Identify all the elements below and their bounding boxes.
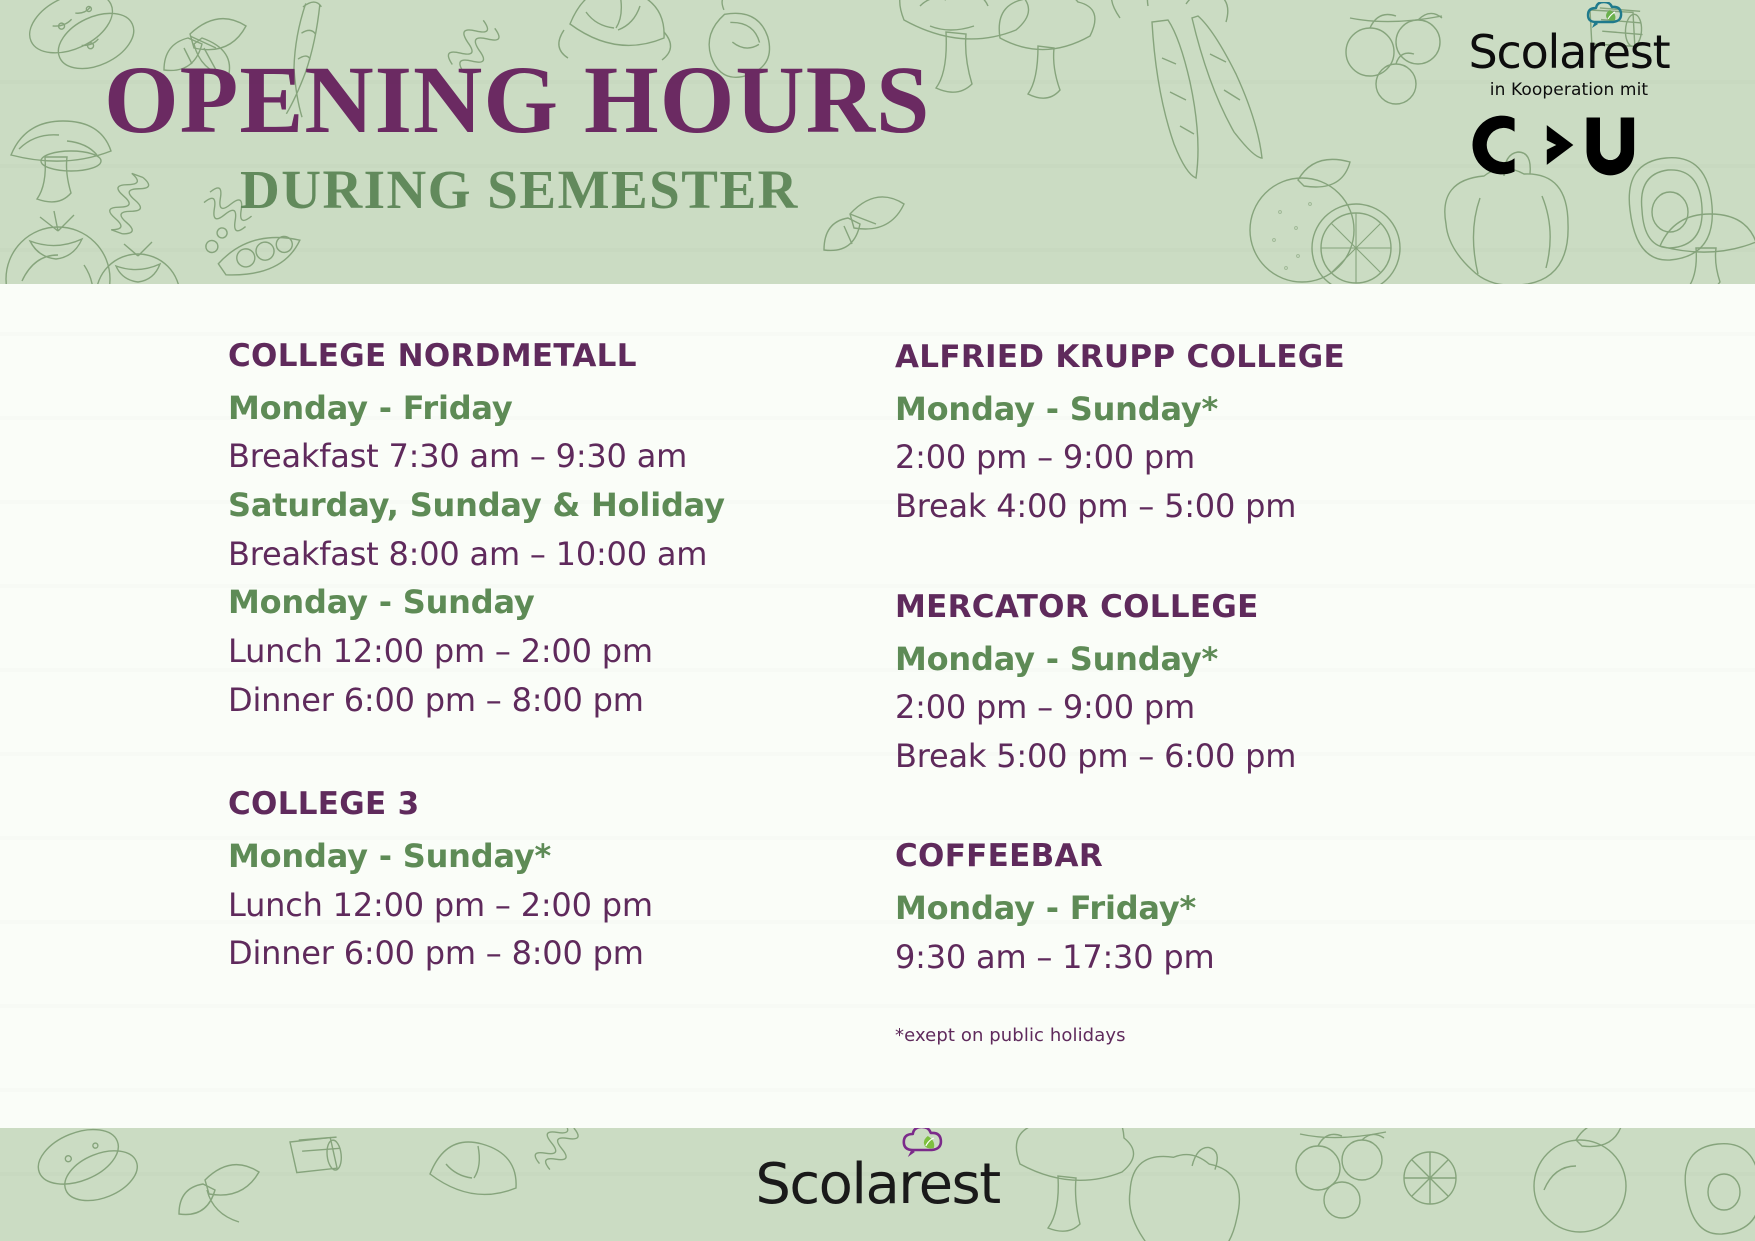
cu-partner-logo (1469, 108, 1668, 182)
venue-times: 2:00 pm – 9:00 pm (895, 683, 1580, 732)
opening-hours-content: COLLEGE NORDMETALL Monday - Friday Break… (0, 284, 1755, 1128)
venue-times: 2:00 pm – 9:00 pm (895, 433, 1580, 482)
venue-times: Lunch 12:00 pm – 2:00 pm (228, 627, 790, 676)
venue-name: COLLEGE NORDMETALL (228, 338, 790, 376)
footer-scolarest-wordmark: Scolarest (755, 1152, 999, 1217)
page-title: OPENING HOURS (104, 52, 930, 148)
venue-times: Break 5:00 pm – 6:00 pm (895, 732, 1580, 781)
venue-name: ALFRIED KRUPP COLLEGE (895, 339, 1580, 377)
cooperation-label: in Kooperation mit (1419, 80, 1719, 100)
scolarest-wordmark: Scolarest (1468, 25, 1669, 79)
footer-wordmark-wrap: Scolarest (755, 1157, 999, 1213)
cloud-leaf-icon (1586, 2, 1626, 32)
venue-name: MERCATOR COLLEGE (895, 589, 1580, 627)
holiday-footnote: *exept on public holidays (895, 1025, 1580, 1046)
venue-days: Monday - Friday (228, 384, 790, 433)
venue-block: COFFEEBAR Monday - Friday* 9:30 am – 17:… (895, 838, 1580, 981)
venue-days: Monday - Sunday (228, 578, 790, 627)
venue-days: Monday - Sunday* (228, 832, 790, 881)
right-column: ALFRIED KRUPP COLLEGE Monday - Sunday* 2… (790, 284, 1580, 1046)
scolarest-brand-logo: Scolarest in Kooperation mit (1419, 28, 1719, 187)
venue-block: MERCATOR COLLEGE Monday - Sunday* 2:00 p… (895, 589, 1580, 781)
footer-scolarest-logo: Scolarest (755, 1157, 999, 1213)
page-title-block: OPENING HOURS DURING SEMESTER (104, 52, 930, 217)
venue-days: Monday - Friday* (895, 884, 1580, 933)
scolarest-wordmark-wrap: Scolarest (1468, 28, 1669, 76)
venue-times: Breakfast 7:30 am – 9:30 am (228, 432, 790, 481)
venue-times: Breakfast 8:00 am – 10:00 am (228, 530, 790, 579)
venue-times: 9:30 am – 17:30 pm (895, 933, 1580, 982)
venue-times: Lunch 12:00 pm – 2:00 pm (228, 881, 790, 930)
venue-name: COLLEGE 3 (228, 786, 790, 824)
venue-times: Dinner 6:00 pm – 8:00 pm (228, 929, 790, 978)
left-column: COLLEGE NORDMETALL Monday - Friday Break… (0, 284, 790, 1046)
header-banner: OPENING HOURS DURING SEMESTER Scolarest … (0, 0, 1755, 284)
venue-block: COLLEGE NORDMETALL Monday - Friday Break… (228, 338, 790, 724)
venue-days: Monday - Sunday* (895, 635, 1580, 684)
venue-times: Break 4:00 pm – 5:00 pm (895, 482, 1580, 531)
venue-block: COLLEGE 3 Monday - Sunday* Lunch 12:00 p… (228, 786, 790, 978)
venue-times: Dinner 6:00 pm – 8:00 pm (228, 676, 790, 725)
venue-block: ALFRIED KRUPP COLLEGE Monday - Sunday* 2… (895, 339, 1580, 531)
cloud-leaf-icon (900, 1128, 946, 1161)
venue-days: Monday - Sunday* (895, 385, 1580, 434)
venue-days: Saturday, Sunday & Holiday (228, 481, 790, 530)
footer-banner: Scolarest (0, 1128, 1755, 1241)
venue-name: COFFEEBAR (895, 838, 1580, 876)
page-subtitle: DURING SEMESTER (240, 162, 930, 217)
